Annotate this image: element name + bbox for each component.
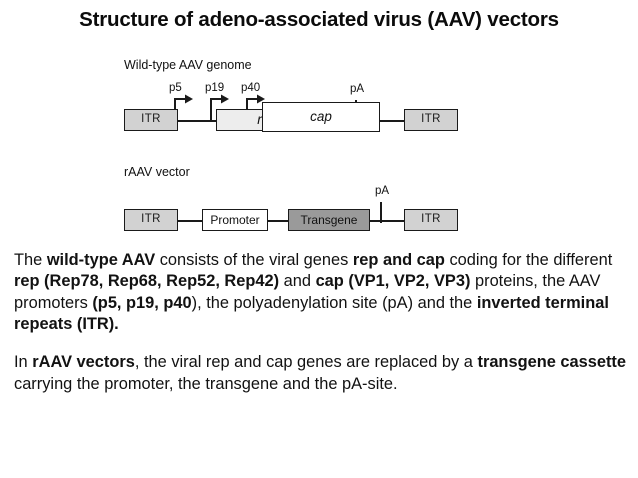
raav-box-promoter: Promoter [202,209,268,231]
wildtype-pa-label: pA [350,83,364,95]
body-text: The wild-type AAV consists of the viral … [14,250,626,395]
raav-box-itr-left: ITR [124,209,178,231]
raav-box-transgene: Transgene [288,209,370,231]
raav-caption: rAAV vector [124,165,190,179]
raav-line-2 [268,220,288,222]
raav-line-3 [370,220,404,222]
page-title: Structure of adeno-associated virus (AAV… [0,8,638,32]
aav-structure-figure: Wild-type AAV genome p5 p19 p40 pA [0,50,638,242]
raav-box-itr-right: ITR [404,209,458,231]
paragraph-raav: In rAAV vectors, the viral rep and cap g… [14,352,626,395]
paragraph-wildtype: The wild-type AAV consists of the viral … [14,250,626,335]
wildtype-box-cap: cap [262,102,380,132]
wildtype-line-left [178,120,216,122]
wildtype-box-itr-right: ITR [404,109,458,131]
wildtype-box-itr-left: ITR [124,109,178,131]
raav-pa-label: pA [375,185,389,197]
raav-line-1 [178,220,202,222]
